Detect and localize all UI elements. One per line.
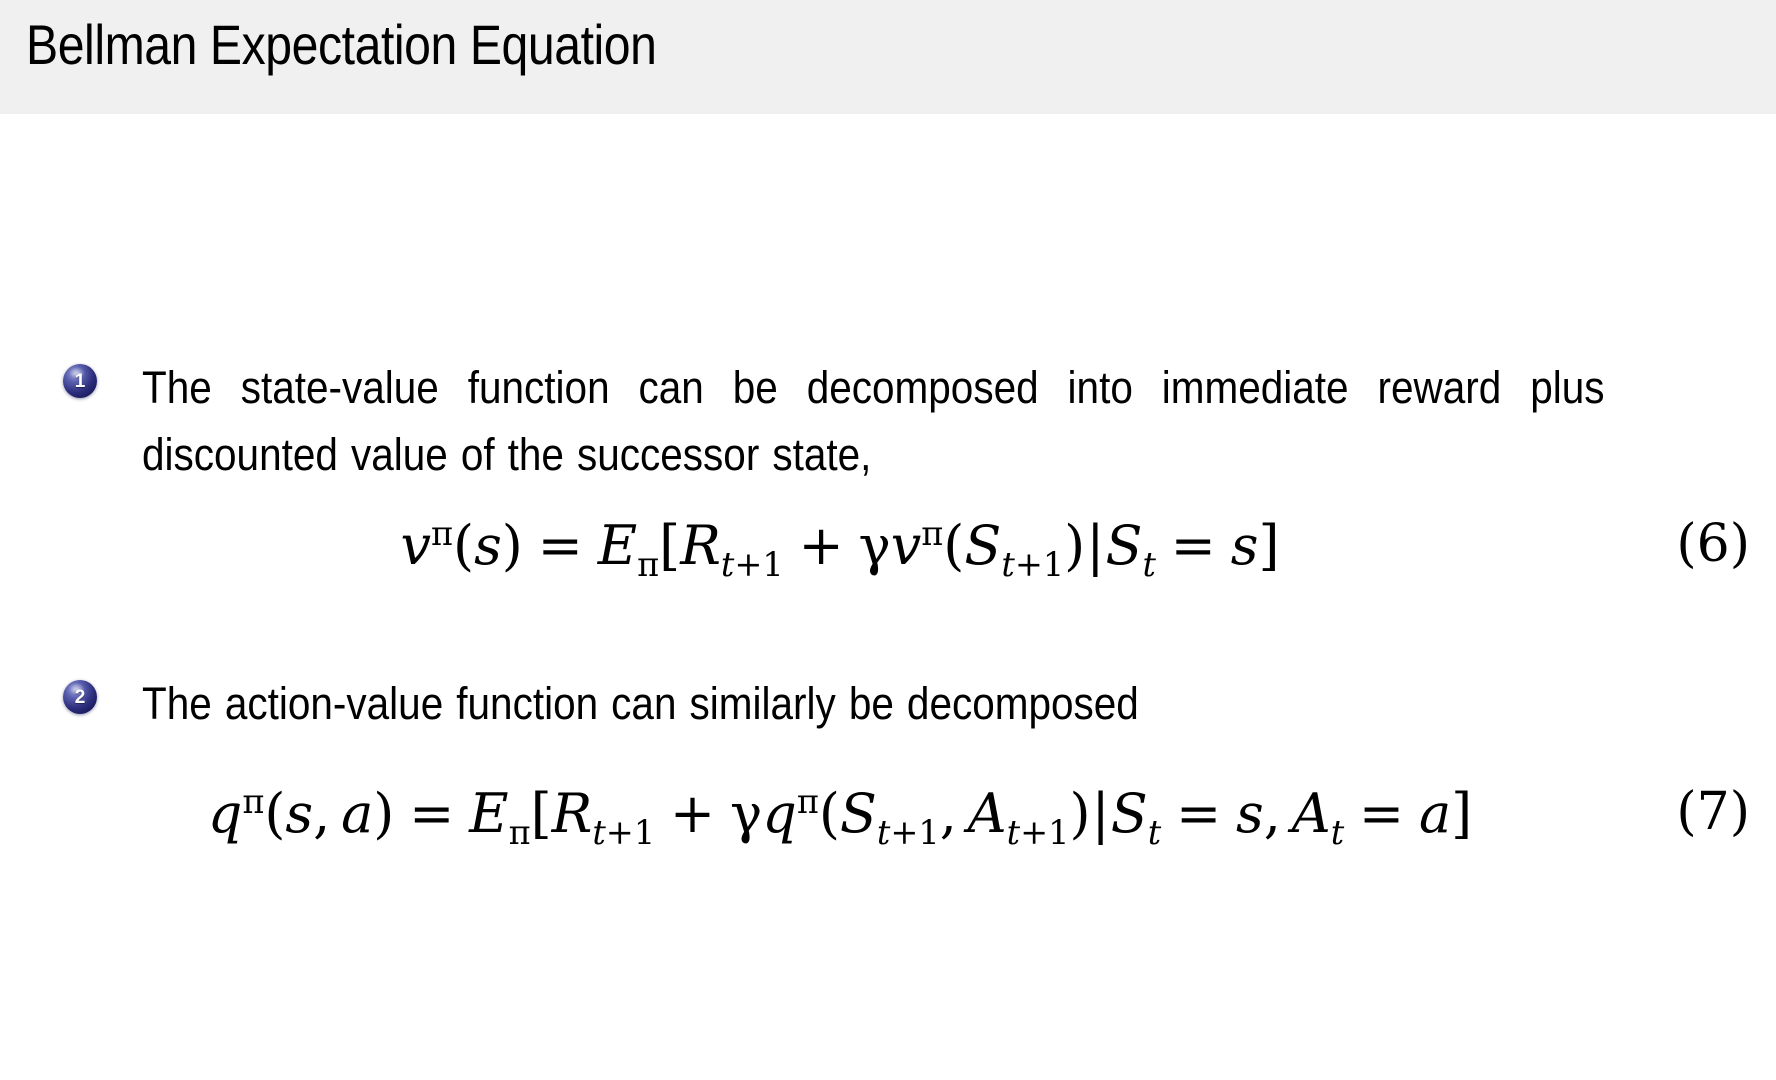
eq7-next-open-paren: (: [819, 782, 840, 845]
eq7-next-close-paren: ): [1069, 782, 1090, 845]
eq6-reward: R: [680, 514, 721, 577]
eq7-cond-action-subscript: t: [1331, 813, 1344, 852]
slide-header: Bellman Expectation Equation: [0, 0, 1776, 114]
eq7-lhs-action: a: [341, 782, 373, 845]
eq7-gamma: γ: [730, 782, 762, 845]
bullet-row: 1 The state-value function can be decomp…: [0, 354, 1776, 488]
eq7-reward-subscript: t+1: [592, 813, 655, 852]
eq7-cond-value: s: [1236, 782, 1264, 845]
eq7-reward: R: [552, 782, 593, 845]
eq7-next-state-subscript: t+1: [877, 813, 940, 852]
eq6-gamma: γ: [858, 514, 890, 577]
eq6-reward-subscript: t+1: [721, 545, 784, 584]
slide-content: 1 The state-value function can be decomp…: [0, 114, 1776, 1080]
bullet-text-2: The action-value function can similarly …: [142, 670, 1605, 737]
eq7-lhs-close-paren: ): [373, 782, 394, 845]
eq7-conditional-bar: |: [1091, 782, 1111, 845]
eq6-lhs-superscript-pi: π: [431, 514, 453, 553]
equation-6-number: (6): [1676, 514, 1750, 574]
eq6-cond-equals: =: [1156, 514, 1231, 577]
eq6-cond-value: s: [1231, 514, 1259, 577]
bullet-number-label: 2: [75, 688, 86, 707]
bullet-text-1: The state-value function can be decompos…: [142, 354, 1605, 488]
bullet-item-2: 2 The action-value function can similarl…: [0, 670, 1776, 737]
bullet-number-label: 1: [75, 372, 86, 391]
eq7-lhs-superscript-pi: π: [242, 782, 264, 821]
eq6-next-state-subscript: t+1: [1001, 545, 1064, 584]
eq7-expectation-subscript-pi: π: [509, 813, 531, 852]
eq7-next-action: A: [968, 782, 1007, 845]
eq7-cond-equals: =: [1161, 782, 1236, 845]
eq7-lhs-open-paren: (: [264, 782, 285, 845]
equation-7-math: qπ(s, a) = Eπ[Rt+1 + γqπ(St+1, At+1)|St …: [208, 782, 1473, 845]
equation-7-expression: qπ(s, a) = Eπ[Rt+1 + γqπ(St+1, At+1)|St …: [0, 782, 1680, 845]
eq6-close-bracket: ]: [1258, 514, 1279, 577]
eq6-lhs-open-paren: (: [453, 514, 474, 577]
eq6-lhs-close-paren: ): [502, 514, 523, 577]
equation-6-expression: vπ(s) = Eπ[Rt+1 + γvπ(St+1)|St = s]: [0, 514, 1680, 577]
eq7-cond-action-equals: =: [1344, 782, 1419, 845]
eq6-expectation: E: [598, 514, 637, 577]
bullet-number-marker-2: 2: [63, 680, 97, 714]
bullet-item-1: 1 The state-value function can be decomp…: [0, 354, 1776, 488]
eq6-next-superscript-pi: π: [921, 514, 943, 553]
page-title: Bellman Expectation Equation: [26, 12, 657, 77]
equation-7-number-wrapper: (7): [1676, 782, 1750, 842]
eq6-lhs-state: s: [474, 514, 502, 577]
equation-6-math: vπ(s) = Eπ[Rt+1 + γvπ(St+1)|St = s]: [400, 514, 1279, 577]
eq7-lhs-comma: ,: [313, 782, 341, 845]
eq6-expectation-subscript-pi: π: [637, 545, 659, 584]
eq6-plus: +: [784, 514, 859, 577]
eq6-lhs-function: v: [400, 514, 431, 577]
eq7-cond-comma: ,: [1264, 782, 1292, 845]
eq7-expectation: E: [469, 782, 508, 845]
eq7-plus: +: [655, 782, 730, 845]
eq6-conditional-bar: |: [1085, 514, 1105, 577]
eq7-lhs-state: s: [285, 782, 313, 845]
equation-6-number-wrapper: (6): [1676, 514, 1750, 574]
eq7-open-bracket: [: [531, 782, 552, 845]
eq6-equals: =: [523, 514, 598, 577]
eq7-cond-action: A: [1292, 782, 1331, 845]
eq6-open-bracket: [: [659, 514, 680, 577]
eq6-next-function: v: [891, 514, 922, 577]
eq7-cond-state: S: [1111, 782, 1148, 845]
bullet-number-marker-1: 1: [63, 364, 97, 398]
eq7-next-function: q: [762, 782, 797, 845]
eq7-cond-state-subscript: t: [1148, 813, 1161, 852]
eq7-next-state: S: [840, 782, 877, 845]
eq6-cond-state-subscript: t: [1142, 545, 1155, 584]
eq7-equals: =: [394, 782, 469, 845]
equation-7-number: (7): [1676, 782, 1750, 842]
eq6-cond-state: S: [1105, 514, 1142, 577]
eq7-close-bracket: ]: [1451, 782, 1472, 845]
bullet-row: 2 The action-value function can similarl…: [0, 670, 1776, 737]
eq6-next-state: S: [964, 514, 1001, 577]
eq6-next-close-paren: ): [1064, 514, 1085, 577]
eq7-cond-action-value: a: [1419, 782, 1451, 845]
eq7-next-comma: ,: [940, 782, 968, 845]
eq7-next-action-subscript: t+1: [1007, 813, 1070, 852]
eq7-lhs-function: q: [208, 782, 243, 845]
eq7-next-superscript-pi: π: [797, 782, 819, 821]
eq6-next-open-paren: (: [943, 514, 964, 577]
